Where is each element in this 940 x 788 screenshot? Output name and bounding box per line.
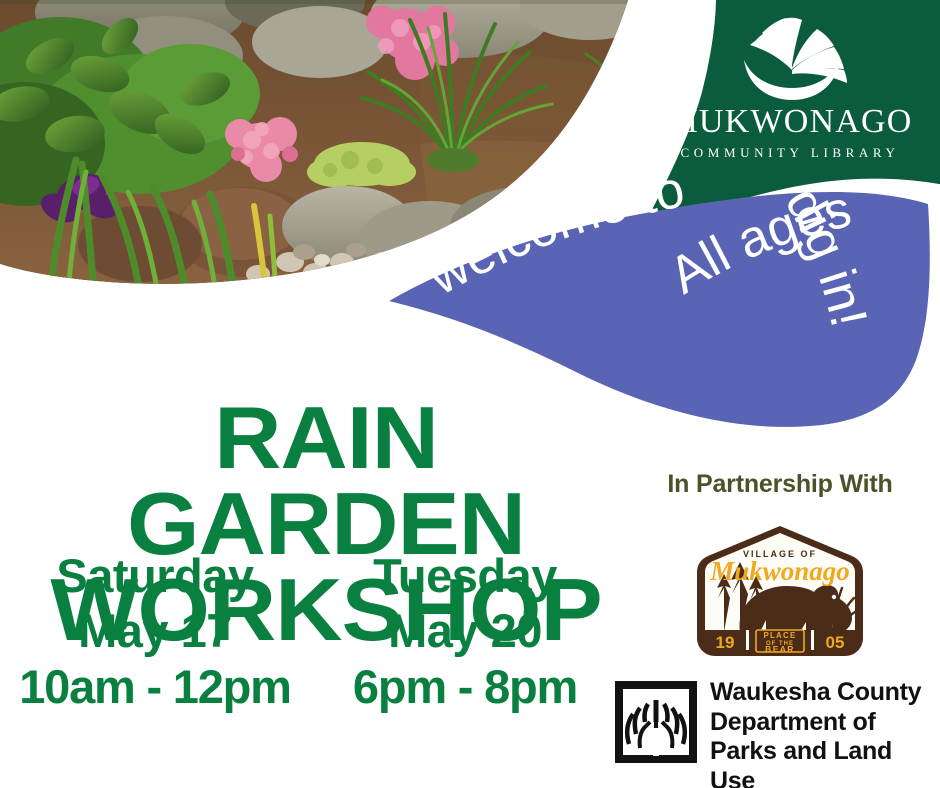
waukesha-text-block: Waukesha County Department of Parks and … [710,678,940,788]
seal-name: Mukwonago [709,556,850,586]
partnership-heading: In Partnership With [630,470,930,499]
session-day: Tuesday [310,548,620,603]
library-logo: MUKWONAGO COMMUNITY LIBRARY [660,12,920,172]
tree-square-logo-icon [612,678,700,766]
seal-motto-3: BEAR [765,644,795,654]
tree-square-icon-svg [612,678,700,766]
session-date: May 17 [0,603,310,658]
waukesha-line-1: Waukesha County [710,678,940,708]
library-subtitle: COMMUNITY LIBRARY [660,145,920,161]
session-list: Saturday May 17 10am - 12pm Tuesday May … [0,548,620,714]
seal-year-right: 05 [826,633,845,652]
flyer-canvas: MUKWONAGO COMMUNITY LIBRARY All ages wel… [0,0,940,788]
library-name: MUKWONAGO [660,105,920,139]
waukesha-line-2: Department of [710,708,940,738]
seal-year-left: 19 [716,633,735,652]
session-item: Tuesday May 20 6pm - 8pm [310,548,620,714]
session-item: Saturday May 17 10am - 12pm [0,548,310,714]
session-time: 10am - 12pm [0,659,310,714]
waukesha-line-3: Parks and Land Use [710,737,940,788]
session-date: May 20 [310,603,620,658]
open-book-logo-icon [722,12,862,102]
seal-motto-1: PLACE [763,631,796,640]
open-book-icon-svg [722,12,862,102]
waukesha-county-logo: Waukesha County Department of Parks and … [612,676,934,776]
session-day: Saturday [0,548,310,603]
title-line-1: RAIN GARDEN [127,388,525,573]
village-of-mukwonago-seal: VILLAGE OF Mukwonago 19 05 PLACE OF THE … [694,524,866,674]
village-seal-svg: VILLAGE OF Mukwonago 19 05 PLACE OF THE … [694,524,866,674]
session-time: 6pm - 8pm [310,659,620,714]
